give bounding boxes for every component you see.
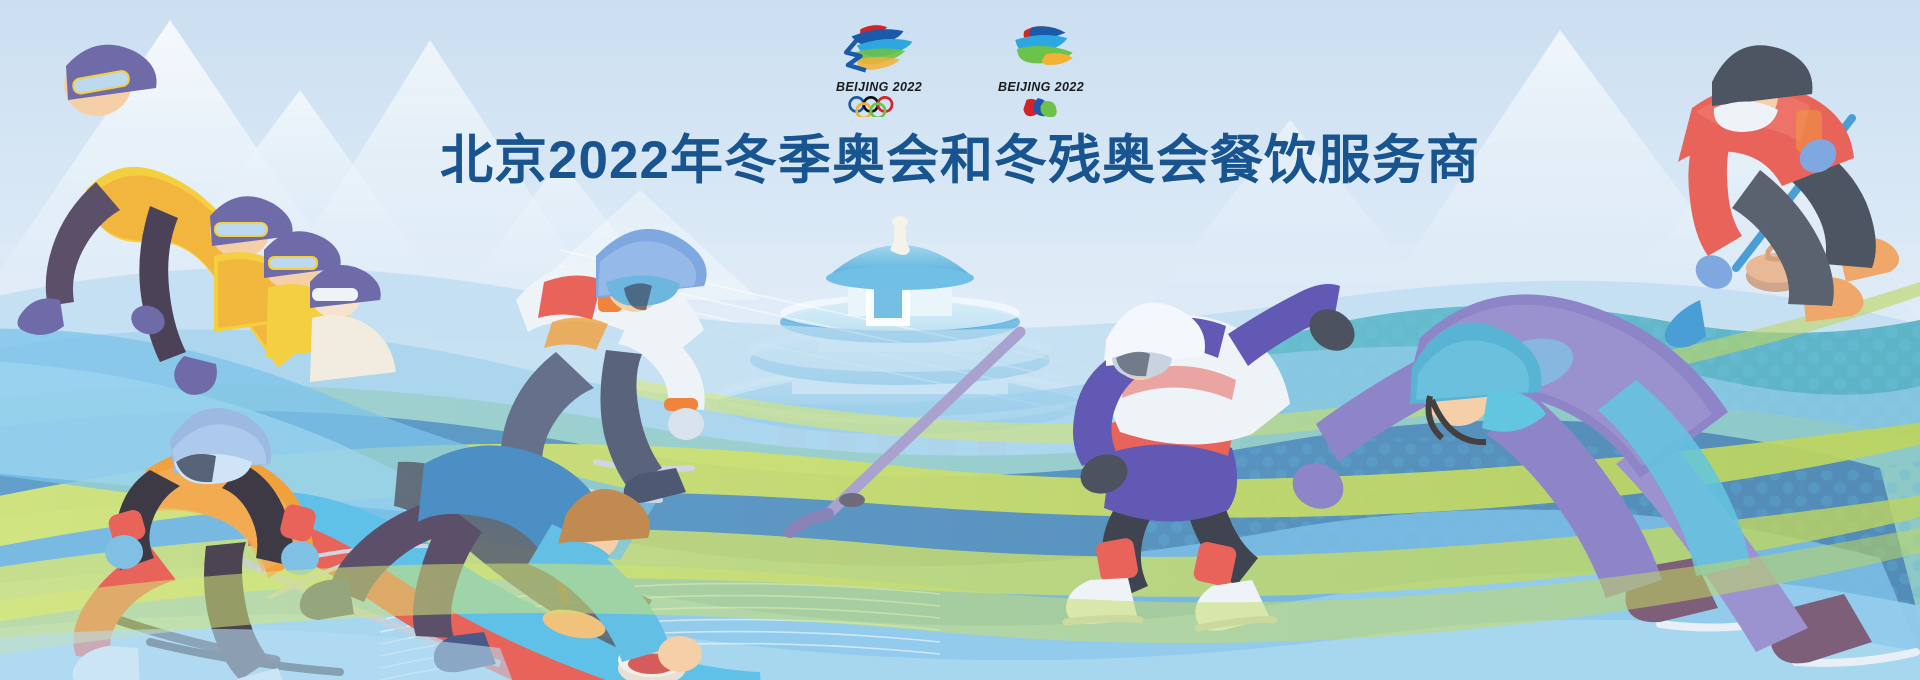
paralympic-emblem: BEIJING 2022 bbox=[989, 22, 1093, 122]
paralympic-wordmark: BEIJING 2022 bbox=[989, 80, 1093, 94]
paralympic-emblem-mark bbox=[992, 22, 1091, 74]
olympic-emblem: BEIJING 2022 bbox=[827, 22, 931, 122]
olympic-banner: BEIJING 2022 BEIJING 2022 bbox=[0, 0, 1920, 680]
agitos-icon bbox=[1003, 95, 1078, 117]
olympic-emblem-mark bbox=[830, 22, 929, 74]
emblem-row: BEIJING 2022 BEIJING 2022 bbox=[0, 22, 1920, 122]
olympic-rings-icon bbox=[841, 95, 916, 117]
olympic-wordmark: BEIJING 2022 bbox=[827, 80, 931, 94]
